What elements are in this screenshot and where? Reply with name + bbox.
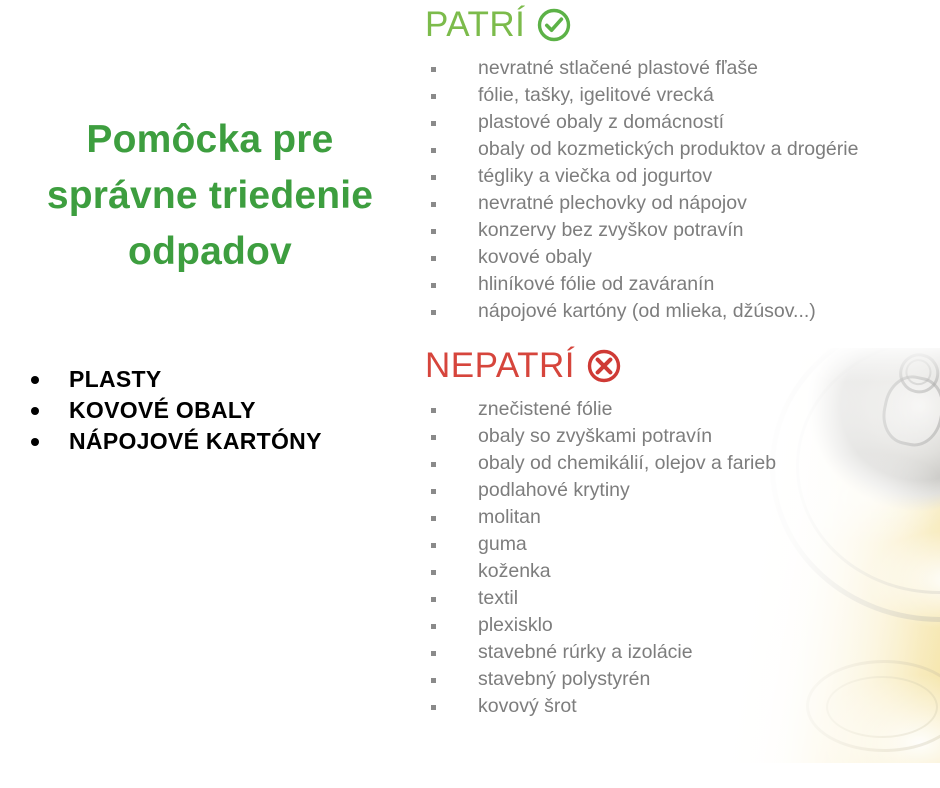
- section-header-belongs: PATRÍ: [425, 6, 572, 44]
- list-item: PLASTY: [22, 364, 420, 395]
- page-title-line-3: odpadov: [0, 224, 420, 280]
- list-item: stavebný polystyrén: [420, 666, 940, 693]
- section-header-not-belongs: NEPATRÍ: [425, 347, 622, 385]
- list-item: kovové obaly: [420, 244, 940, 271]
- list-item: textil: [420, 585, 940, 612]
- list-item: NÁPOJOVÉ KARTÓNY: [22, 426, 420, 457]
- list-item: nevratné plechovky od nápojov: [420, 190, 940, 217]
- left-panel: Pomôcka pre správne triedenie odpadov PL…: [0, 0, 420, 788]
- waste-category-list: PLASTY KOVOVÉ OBALY NÁPOJOVÉ KARTÓNY: [22, 364, 420, 457]
- slide-canvas: Pomôcka pre správne triedenie odpadov PL…: [0, 0, 940, 788]
- list-item: molitan: [420, 504, 940, 531]
- page-title-line-2: správne triedenie: [0, 168, 420, 224]
- list-item: kovový šrot: [420, 693, 940, 720]
- section-header-belongs-label: PATRÍ: [425, 6, 525, 44]
- section-header-not-belongs-label: NEPATRÍ: [425, 347, 575, 385]
- list-item: plexisklo: [420, 612, 940, 639]
- list-item: obaly so zvyškami potravín: [420, 423, 940, 450]
- list-item: nevratné stlačené plastové fľaše: [420, 55, 940, 82]
- photo-fade-top-overlay: [620, 348, 940, 382]
- list-item: stavebné rúrky a izolácie: [420, 639, 940, 666]
- list-item: koženka: [420, 558, 940, 585]
- list-item: podlahové krytiny: [420, 477, 940, 504]
- belongs-list: nevratné stlačené plastové fľaše fólie, …: [420, 55, 940, 325]
- list-item: znečistené fólie: [420, 396, 940, 423]
- list-item: fólie, tašky, igelitové vrecká: [420, 82, 940, 109]
- list-item: tégliky a viečka od jogurtov: [420, 163, 940, 190]
- list-item: KOVOVÉ OBALY: [22, 395, 420, 426]
- list-item: obaly od chemikálií, olejov a farieb: [420, 450, 940, 477]
- right-panel: PATRÍ nevratné stlačené plastové fľaše f…: [420, 0, 940, 788]
- list-item: guma: [420, 531, 940, 558]
- list-item: nápojové kartóny (od mlieka, džúsov...): [420, 298, 940, 325]
- not-belongs-list: znečistené fólie obaly so zvyškami potra…: [420, 396, 940, 720]
- page-title-line-1: Pomôcka pre: [0, 112, 420, 168]
- x-circle-icon: [586, 348, 622, 384]
- check-circle-icon: [536, 7, 572, 43]
- list-item: hliníkové fólie od zaváranín: [420, 271, 940, 298]
- list-item: plastové obaly z domácností: [420, 109, 940, 136]
- page-title: Pomôcka pre správne triedenie odpadov: [0, 112, 420, 280]
- list-item: konzervy bez zvyškov potravín: [420, 217, 940, 244]
- list-item: obaly od kozmetických produktov a drogér…: [420, 136, 940, 163]
